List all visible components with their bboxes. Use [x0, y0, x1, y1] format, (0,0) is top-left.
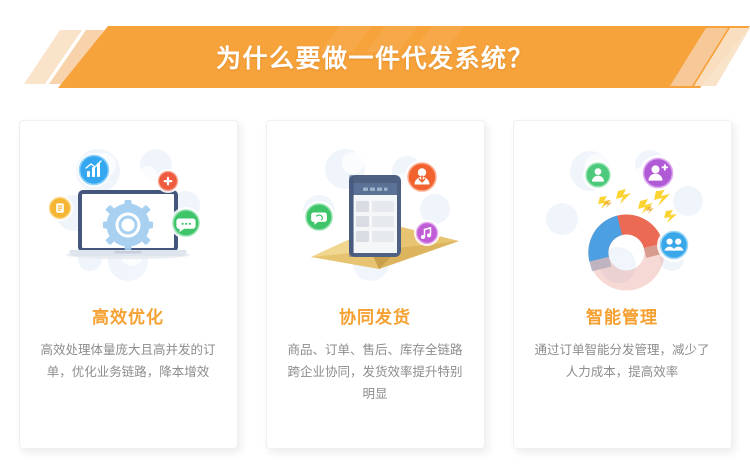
document-badge-icon [47, 195, 73, 221]
feature-card-intelligent-management[interactable]: 智能管理 通过订单智能分发管理，减少了人力成本，提高效率 [513, 120, 732, 449]
magnet-users-illustration [522, 135, 722, 295]
card-title: 高效优化 [92, 303, 164, 328]
phone-badge-icon [303, 201, 335, 233]
card-description: 高效处理体量庞大且高并发的订单，优化业务链路，降本增效 [37, 340, 219, 384]
phone-paperplane-illustration [275, 135, 475, 295]
user-badge-icon [583, 160, 613, 190]
card-title: 协同发货 [339, 303, 411, 328]
person-download-badge-icon [405, 160, 439, 194]
page-title: 为什么要做一件代发系统？ [0, 26, 750, 88]
plus-badge-icon [156, 169, 180, 193]
laptop-gear-illustration [28, 135, 228, 295]
feature-card-list: 高效优化 高效处理体量庞大且高并发的订单，优化业务链路，降本增效 [0, 120, 750, 449]
page-root: 为什么要做一件代发系统？ [0, 0, 750, 476]
section-banner: 为什么要做一件代发系统？ [0, 26, 750, 88]
group-badge-icon [657, 228, 691, 262]
card-description: 商品、订单、售后、库存全链路跨企业协同，发货效率提升特别明显 [284, 340, 466, 406]
music-badge-icon [414, 220, 440, 246]
feature-card-efficient-optimization[interactable]: 高效优化 高效处理体量庞大且高并发的订单，优化业务链路，降本增效 [19, 120, 238, 449]
add-user-badge-icon [640, 155, 676, 191]
card-title: 智能管理 [586, 303, 658, 328]
chart-badge-icon [77, 153, 111, 187]
card-description: 通过订单智能分发管理，减少了人力成本，提高效率 [531, 340, 713, 384]
chat-badge-icon [170, 207, 202, 239]
feature-card-collaborative-shipping[interactable]: 协同发货 商品、订单、售后、库存全链路跨企业协同，发货效率提升特别明显 [266, 120, 485, 449]
